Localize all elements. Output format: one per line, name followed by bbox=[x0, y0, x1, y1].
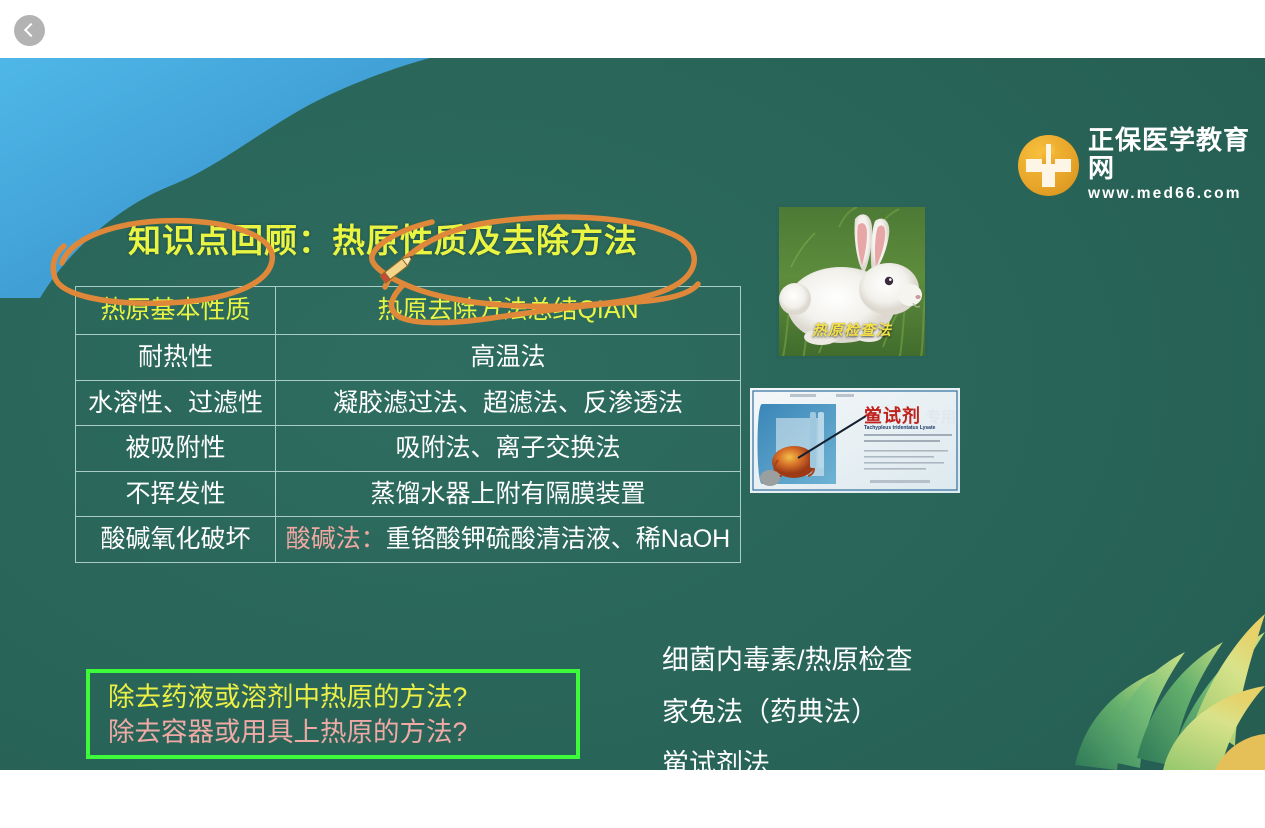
row-method: 蒸馏水器上附有隔膜装置 bbox=[276, 471, 741, 517]
brand-name: 正保医学教育网 bbox=[1088, 127, 1256, 182]
wave-decoration bbox=[0, 58, 430, 298]
row-property: 酸碱氧化破坏 bbox=[76, 517, 276, 563]
row-property: 不挥发性 bbox=[76, 471, 276, 517]
table-row: 不挥发性 蒸馏水器上附有隔膜装置 bbox=[76, 471, 741, 517]
row-property: 被吸附性 bbox=[76, 426, 276, 472]
reagent-photo: 鲎试剂 Tachypleus tridentatus Lysate 专用 bbox=[750, 388, 960, 493]
table-header-row: 热原基本性质 热原去除方法总结QIAN bbox=[76, 287, 741, 335]
medical-cross-icon bbox=[1018, 135, 1079, 196]
table-row: 酸碱氧化破坏 酸碱法：重铬酸钾硫酸清洁液、稀NaOH bbox=[76, 517, 741, 563]
brand-logo: 正保医学教育网 www.med66.com bbox=[1018, 134, 1256, 196]
svg-text:鲎试剂: 鲎试剂 bbox=[864, 405, 921, 426]
note-line: 家兔法（药典法） bbox=[662, 699, 913, 726]
note-line: 细菌内毒素/热原检查 bbox=[662, 647, 913, 674]
right-notes-list: 细菌内毒素/热原检查 家兔法（药典法） 鲎试剂法 bbox=[662, 647, 913, 770]
note-line: 鲎试剂法 bbox=[662, 751, 913, 770]
row-property: 水溶性、过滤性 bbox=[76, 380, 276, 426]
table-header-property: 热原基本性质 bbox=[76, 287, 276, 335]
svg-text:专用: 专用 bbox=[926, 408, 956, 426]
row-method: 凝胶滤过法、超滤法、反渗透法 bbox=[276, 380, 741, 426]
row-method: 高温法 bbox=[276, 335, 741, 381]
leaves-decoration bbox=[1045, 560, 1265, 770]
slide-canvas[interactable]: 正保医学教育网 www.med66.com 知识点回顾：热原性质及去除方法 热原… bbox=[0, 58, 1265, 770]
chevron-left-icon bbox=[24, 23, 38, 37]
app-header-bar bbox=[0, 0, 1265, 58]
question-line-2: 除去容器或用具上热原的方法? bbox=[108, 715, 564, 750]
row-method-prefix: 酸碱法： bbox=[286, 525, 386, 553]
row-property: 耐热性 bbox=[76, 335, 276, 381]
rabbit-photo: 热原检查法 bbox=[776, 204, 928, 359]
row-method-body: 重铬酸钾硫酸清洁液、稀NaOH bbox=[386, 525, 730, 553]
table-header-method: 热原去除方法总结QIAN bbox=[276, 287, 741, 335]
reagent-photo-graphic: 鲎试剂 Tachypleus tridentatus Lysate 专用 bbox=[750, 388, 960, 493]
back-button[interactable] bbox=[14, 15, 45, 46]
svg-text:Tachypleus tridentatus Lysate: Tachypleus tridentatus Lysate bbox=[864, 425, 936, 431]
table-row: 水溶性、过滤性 凝胶滤过法、超滤法、反渗透法 bbox=[76, 380, 741, 426]
slide-title: 知识点回顾：热原性质及去除方法 bbox=[128, 214, 638, 262]
rabbit-photo-caption: 热原检查法 bbox=[779, 319, 925, 340]
row-method: 吸附法、离子交换法 bbox=[276, 426, 741, 472]
table-row: 耐热性 高温法 bbox=[76, 335, 741, 381]
table-row: 被吸附性 吸附法、离子交换法 bbox=[76, 426, 741, 472]
question-callout-box: 除去药液或溶剂中热原的方法? 除去容器或用具上热原的方法? bbox=[86, 669, 580, 759]
row-method: 酸碱法：重铬酸钾硫酸清洁液、稀NaOH bbox=[276, 517, 741, 563]
question-line-1: 除去药液或溶剂中热原的方法? bbox=[108, 680, 564, 715]
brand-url: www.med66.com bbox=[1088, 185, 1256, 203]
knowledge-table: 热原基本性质 热原去除方法总结QIAN 耐热性 高温法 水溶性、过滤性 凝胶滤过… bbox=[75, 286, 741, 563]
